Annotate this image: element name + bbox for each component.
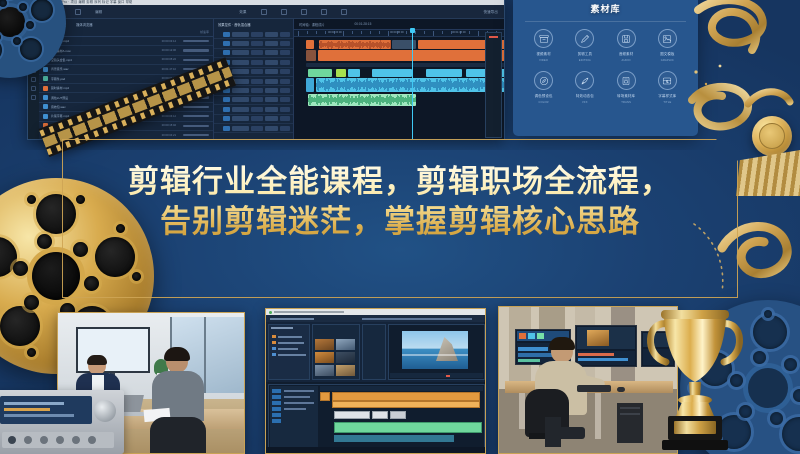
timeline-clip[interactable] (306, 63, 505, 67)
clip-color-swatch (43, 104, 48, 109)
clip-meta-bar (183, 49, 209, 51)
material-library-item-sub: EDITING (579, 59, 591, 62)
effect-value-3 (265, 69, 279, 74)
material-library-item-label: 图文模板 (660, 51, 674, 56)
effect-index (217, 126, 221, 131)
material-library-item-label: 剪辑工具 (578, 51, 592, 56)
timeline-track[interactable] (294, 108, 504, 113)
effect-value-2 (251, 60, 263, 65)
type-tool-icon[interactable] (31, 95, 36, 100)
effect-value-3 (265, 116, 279, 121)
pen-icon[interactable] (575, 29, 594, 48)
material-library-item-label: 特效动态包 (576, 93, 594, 98)
rocket-icon[interactable] (575, 71, 594, 90)
clip-color-swatch (43, 67, 48, 72)
toolbar-icon-6[interactable] (321, 9, 327, 15)
effect-value-3 (265, 79, 279, 84)
clip-color-swatch (43, 86, 48, 91)
timeline-clip[interactable] (426, 69, 462, 77)
material-library-item[interactable]: 调色预设包COLOR (523, 71, 564, 104)
reel-hole (20, 38, 42, 60)
material-library-item-sub: AUDIO (622, 59, 631, 62)
timeline-clip[interactable] (372, 69, 412, 77)
clip-name: 调色LUT预设 (51, 96, 91, 100)
material-library-item-label: 字幕样式库 (658, 93, 676, 98)
effect-value-3 (265, 107, 279, 112)
image-icon[interactable] (658, 29, 677, 48)
effect-value (232, 60, 249, 65)
timeline-track[interactable] (294, 69, 504, 77)
material-library-item[interactable]: 剪辑工具EDITING (564, 29, 605, 62)
effect-value-4 (280, 88, 290, 93)
compass-icon[interactable] (534, 71, 553, 90)
playhead[interactable] (412, 30, 413, 140)
timeline-track[interactable] (294, 78, 504, 92)
material-library-title: 素材库 (523, 2, 688, 15)
archive-icon[interactable] (534, 29, 553, 48)
effect-row[interactable] (214, 49, 293, 58)
effect-value-4 (280, 79, 290, 84)
effect-toggle[interactable] (223, 32, 230, 37)
timeline-clip[interactable] (336, 69, 346, 77)
material-library-item[interactable]: 视频素材VIDEO (523, 29, 564, 62)
toolbar-icon-2[interactable] (75, 9, 81, 15)
ruler-label: 00:01:15:00 (452, 31, 466, 34)
timeline-timecode: 00:01:28:15 (355, 22, 372, 26)
clip-timecode: 00:00:05:22 (162, 58, 176, 61)
clip-name: 音效包.wav (51, 105, 91, 109)
hand-tool-icon[interactable] (31, 77, 36, 82)
material-library-item-sub: GRAPHIC (661, 59, 674, 62)
effect-row[interactable] (214, 96, 293, 105)
effect-index (217, 32, 221, 37)
material-library-item-label: 视频素材 (536, 51, 550, 56)
banner-canvas: Premiere Pro · 项目 编辑 剪辑 序列 标记 字幕 窗口 帮助 文… (0, 0, 800, 454)
project-row[interactable]: 空镜头合集.mp400:00:05:22 (39, 56, 213, 65)
reel-hole (31, 0, 53, 21)
reel-hole (13, 37, 21, 45)
material-library-item-label: 调色预设包 (535, 93, 553, 98)
reel-hole (26, 21, 34, 29)
timeline-track[interactable] (294, 94, 504, 106)
nle-toolbar: 文件 编辑 效果 快速导出 (28, 5, 504, 19)
timeline-clip[interactable] (308, 69, 332, 77)
effect-value-2 (251, 32, 263, 37)
effect-toggle[interactable] (223, 50, 230, 55)
gold-medal (752, 116, 792, 156)
effect-value (232, 97, 249, 102)
clip-meta-bar (183, 125, 209, 127)
effect-value-3 (265, 88, 279, 93)
material-library-panel: 素材库 视频素材VIDEO剪辑工具EDITING音频素材AUDIO图文模板GRA… (513, 0, 698, 136)
effect-value-4 (280, 107, 290, 112)
audio-meter (485, 32, 502, 138)
effect-value-3 (265, 126, 279, 131)
effect-index (217, 41, 221, 46)
material-library-item-sub: COLOR (539, 101, 549, 104)
material-library-item-sub: VIDEO (539, 59, 548, 62)
material-library-item-sub: VFX (582, 101, 588, 104)
reel-hole (0, 0, 7, 7)
clip-name: 延时素材.mp4 (51, 86, 91, 90)
clip-color-swatch (43, 76, 48, 81)
effect-toggle[interactable] (223, 107, 230, 112)
headline-line-2: 告别剪辑迷茫，掌握剪辑核心思路 (62, 203, 738, 243)
effect-value-2 (251, 79, 263, 84)
effect-value (232, 41, 249, 46)
material-library-item[interactable]: 图文模板GRAPHIC (647, 29, 688, 62)
timeline-clip[interactable] (319, 40, 391, 49)
toolbar-icon-5[interactable] (301, 9, 307, 15)
effect-value-2 (251, 50, 263, 55)
effect-value (232, 69, 249, 74)
effect-value-4 (280, 126, 290, 131)
timeline-track[interactable] (294, 50, 504, 61)
clip-meta-bar (183, 115, 209, 117)
divider (525, 21, 686, 22)
clip-name: 字幕条.psd (51, 77, 91, 81)
clip-timecode: 00:00:15:02 (162, 124, 176, 127)
material-library-item[interactable]: 转场素材库TRANS (606, 71, 647, 104)
headline-line-1: 剪辑行业全能课程，剪辑职场全流程， (62, 163, 738, 203)
effect-value-3 (265, 50, 279, 55)
toolbar-icon-7[interactable] (341, 9, 347, 15)
headline-text: 剪辑行业全能课程，剪辑职场全流程， 告别剪辑迷茫，掌握剪辑核心思路 (62, 163, 738, 242)
clip-color-swatch (43, 95, 48, 100)
material-library-item[interactable]: 音频素材AUDIO (606, 29, 647, 62)
clip-color-swatch (43, 114, 48, 119)
project-row[interactable]: 片头转场.mp400:00:03:14 (39, 37, 213, 46)
effect-value (232, 126, 249, 131)
headline-frame: 剪辑行业全能课程，剪辑职场全流程， 告别剪辑迷茫，掌握剪辑核心思路 剪辑行业全能… (62, 139, 738, 298)
effect-value (232, 88, 249, 93)
effect-index (217, 116, 221, 121)
effect-row[interactable] (214, 115, 293, 124)
sparkle-dots (690, 60, 740, 100)
clip-meta-bar (183, 40, 209, 42)
reel-hole (37, 234, 52, 249)
effect-value-4 (280, 32, 290, 37)
project-row[interactable]: 访谈素材A.mov00:00:12:06 (39, 46, 213, 55)
effect-value (232, 32, 249, 37)
effect-value-4 (280, 41, 290, 46)
reel-hole (27, 195, 36, 204)
effect-value (232, 116, 249, 121)
effect-value-4 (280, 97, 290, 102)
effect-value-2 (251, 97, 263, 102)
material-library-item-label: 转场素材库 (617, 93, 635, 98)
ruler-label: 00:00:15:00 (328, 31, 342, 34)
timeline-clip[interactable] (306, 78, 314, 92)
effect-value-3 (265, 32, 279, 37)
editing-software-photo (265, 308, 486, 454)
effect-index (217, 97, 221, 102)
gold-trophy (640, 290, 750, 454)
effect-value-2 (251, 126, 263, 131)
toolbar-effects[interactable]: 效果 (239, 9, 246, 14)
toolbar-workspace[interactable]: 编辑 (95, 9, 102, 14)
timeline-panel[interactable]: 时间轴：课程成片 00:01:28:15 00:00:15:0000:00:45… (294, 19, 504, 140)
zoom-tool-icon[interactable] (31, 86, 36, 91)
toolbar-icon-3[interactable] (261, 9, 267, 15)
card-icon[interactable] (658, 71, 677, 90)
ruler-label: 00:00:45:00 (390, 31, 404, 34)
effect-index (217, 50, 221, 55)
effect-value-3 (265, 60, 279, 65)
material-library-item[interactable]: 特效动态包VFX (564, 71, 605, 104)
effect-value-2 (251, 88, 263, 93)
toolbar-icon-4[interactable] (281, 9, 287, 15)
timeline-tab[interactable]: 时间轴：课程成片 (299, 22, 325, 27)
material-library-item-sub: TITLE (663, 101, 671, 104)
timeline-track[interactable] (294, 63, 504, 67)
effect-index (217, 107, 221, 112)
reel-hole (0, 39, 2, 61)
effect-value-2 (251, 107, 263, 112)
effect-value-3 (265, 97, 279, 102)
effect-toggle[interactable] (223, 116, 230, 121)
effect-value (232, 50, 249, 55)
effect-toggle[interactable] (223, 41, 230, 46)
clip-meta-bar (183, 106, 209, 108)
clip-meta-bar (183, 59, 209, 61)
clip-timecode: 00:00:04:21 (162, 134, 176, 137)
timeline-track[interactable] (294, 40, 504, 49)
clip-meta-bar (183, 134, 209, 136)
effect-value-4 (280, 50, 290, 55)
effect-row[interactable] (214, 39, 293, 48)
book-icon[interactable] (617, 71, 636, 90)
effect-value-4 (280, 116, 290, 121)
material-library-grid[interactable]: 视频素材VIDEO剪辑工具EDITING音频素材AUDIO图文模板GRAPHIC… (523, 29, 688, 104)
clip-name: 空镜头合集.mp4 (51, 58, 91, 62)
effect-row[interactable] (214, 105, 293, 114)
effect-toggle[interactable] (223, 126, 230, 131)
material-library-item-label: 音频素材 (619, 51, 633, 56)
timeline-clip[interactable] (348, 69, 360, 77)
vintage-audio-mixer (0, 390, 124, 454)
effect-value-4 (280, 60, 290, 65)
timeline-clip[interactable] (306, 50, 316, 61)
material-library-item-sub: TRANS (621, 101, 631, 104)
toolbar-quick-export[interactable]: 快速导出 (484, 9, 498, 14)
effect-value-2 (251, 116, 263, 121)
effect-row[interactable] (214, 30, 293, 39)
clip-name: 背景音乐.wav (51, 67, 91, 71)
effect-value-2 (251, 41, 263, 46)
material-library-item[interactable]: 字幕样式库TITLE (647, 71, 688, 104)
clip-timecode: 00:00:12:06 (162, 49, 176, 52)
reel-hole (13, 261, 28, 276)
effect-controls-tab[interactable]: 效果控件 · 音轨混合器 (218, 22, 251, 27)
clip-timecode: 00:00:06:12 (162, 115, 176, 118)
effect-value-4 (280, 69, 290, 74)
timeline-clip[interactable] (316, 78, 505, 92)
clip-timecode: 00:00:03:14 (162, 40, 176, 43)
effect-toggle[interactable] (223, 97, 230, 102)
timeline-ruler[interactable]: 00:00:15:0000:00:45:0000:01:15:0000:01:4… (294, 30, 504, 37)
effect-value-2 (251, 69, 263, 74)
timeline-clip[interactable] (306, 40, 314, 49)
media-browser-tab[interactable]: 媒体浏览器 (76, 22, 92, 27)
reel-hole (19, 3, 27, 11)
save-icon[interactable] (617, 29, 636, 48)
effect-value-3 (265, 41, 279, 46)
effect-row[interactable] (214, 124, 293, 133)
timeline-clip[interactable] (308, 94, 416, 106)
clip-timecode: 00:01:47:10 (162, 68, 176, 71)
column-framerate: 帧速率 (200, 30, 209, 34)
effect-value (232, 107, 249, 112)
